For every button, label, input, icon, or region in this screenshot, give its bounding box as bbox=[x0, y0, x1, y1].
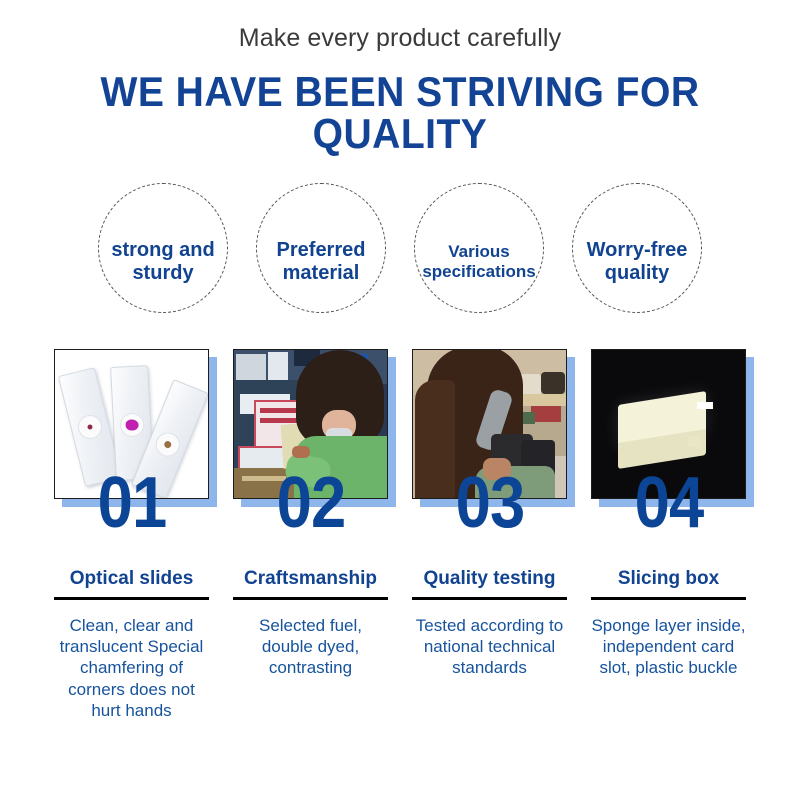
card-description: Selected fuel, double dyed, contrasting bbox=[233, 615, 388, 679]
card-divider bbox=[233, 597, 388, 600]
badge-strong-and-sturdy: strong and sturdy bbox=[98, 183, 228, 313]
card-divider bbox=[54, 597, 209, 600]
badge-preferred-material: Preferred material bbox=[256, 183, 386, 313]
card-number: 04 bbox=[634, 467, 703, 539]
feature-card-quality-testing: 03 Quality testing Tested according to n… bbox=[412, 349, 567, 721]
feature-card-craftsmanship: 02 Craftsmanship Selected fuel, double d… bbox=[233, 349, 388, 721]
card-thumbnail-wrap: 01 bbox=[54, 349, 209, 499]
card-description: Clean, clear and translucent Special cha… bbox=[54, 615, 209, 721]
feature-badge-row: strong and sturdy Preferred material Var… bbox=[0, 183, 800, 313]
card-title: Optical slides bbox=[54, 569, 209, 590]
page-header: Make every product carefully WE HAVE BEE… bbox=[0, 0, 800, 155]
badge-label: Worry-free quality bbox=[573, 239, 701, 285]
card-number: 03 bbox=[455, 467, 524, 539]
card-number: 01 bbox=[97, 467, 166, 539]
card-thumbnail-wrap: 04 bbox=[591, 349, 746, 499]
card-title: Slicing box bbox=[591, 569, 746, 590]
page-subtitle: Make every product carefully bbox=[0, 26, 800, 51]
badge-label: Preferred material bbox=[257, 239, 385, 285]
card-title: Quality testing bbox=[412, 569, 567, 590]
card-description: Sponge layer inside, independent card sl… bbox=[591, 615, 746, 679]
card-thumbnail-wrap: 02 bbox=[233, 349, 388, 499]
card-number: 02 bbox=[276, 467, 345, 539]
badge-worry-free-quality: Worry-free quality bbox=[572, 183, 702, 313]
product-feature-cards: 01 Optical slides Clean, clear and trans… bbox=[0, 349, 800, 721]
card-description: Tested according to national technical s… bbox=[412, 615, 567, 679]
badge-label: strong and sturdy bbox=[99, 239, 227, 285]
card-divider bbox=[591, 597, 746, 600]
card-title: Craftsmanship bbox=[233, 569, 388, 590]
page-title: WE HAVE BEEN STRIVING FOR QUALITY bbox=[28, 71, 772, 155]
feature-card-optical-slides: 01 Optical slides Clean, clear and trans… bbox=[54, 349, 209, 721]
card-thumbnail-wrap: 03 bbox=[412, 349, 567, 499]
badge-label: Various specifications bbox=[415, 242, 543, 281]
feature-card-slicing-box: 04 Slicing box Sponge layer inside, inde… bbox=[591, 349, 746, 721]
card-divider bbox=[412, 597, 567, 600]
badge-various-specifications: Various specifications bbox=[414, 183, 544, 313]
